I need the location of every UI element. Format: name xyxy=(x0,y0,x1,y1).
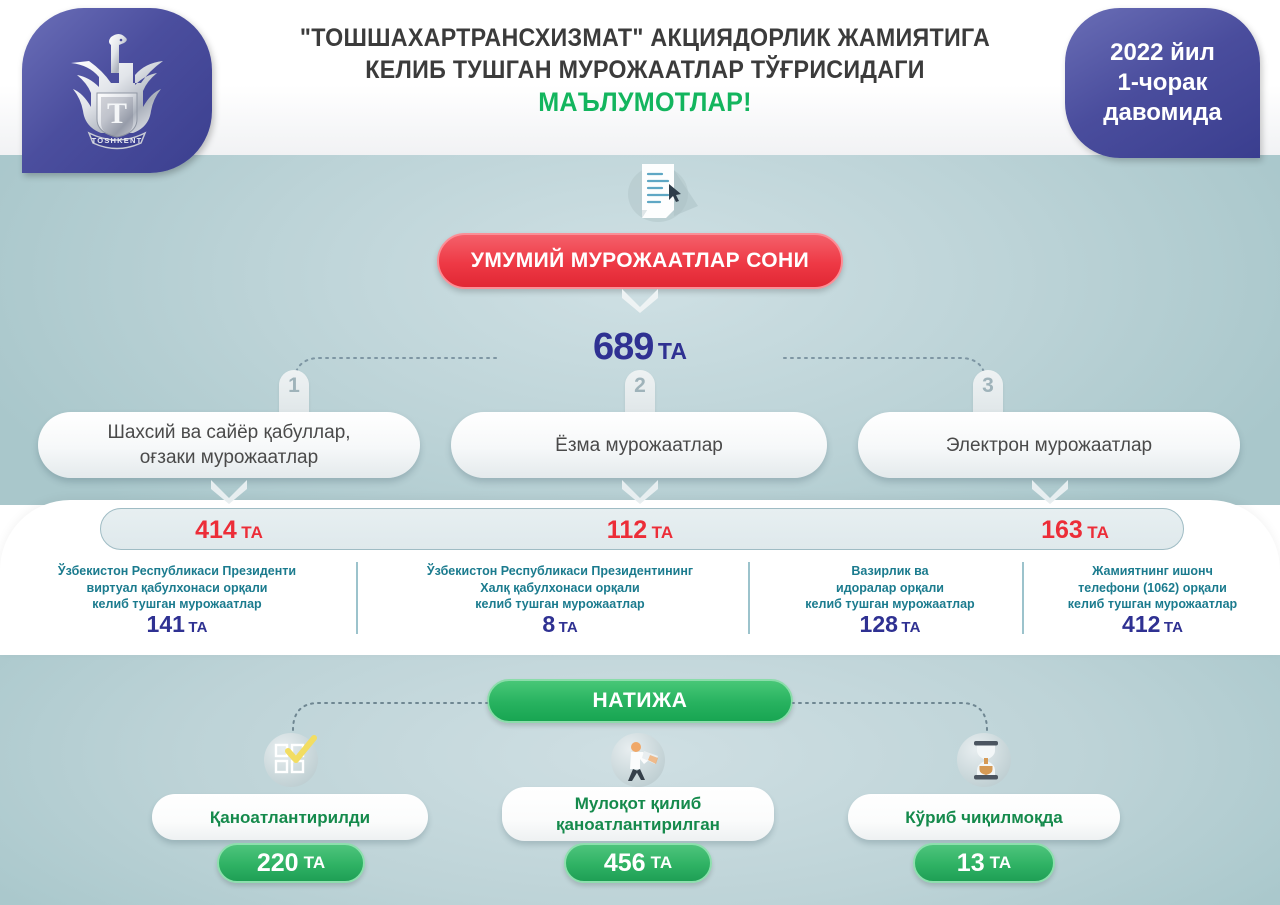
result-1-number: 220 xyxy=(257,849,299,878)
category-2-label: Ёзма мурожаатлар xyxy=(555,433,723,458)
channel-column-2: Ўзбекистон Республикаси Президентининг Х… xyxy=(370,563,750,636)
category-value-3-unit: ТА xyxy=(1087,523,1109,542)
title-line-2: КЕЛИБ ТУШГАН МУРОЖААТЛАР ТЎҒРИСИДАГИ xyxy=(278,54,1013,86)
category-value-1: 414 ТА xyxy=(144,516,314,545)
channel-4-number: 412 xyxy=(1122,611,1160,637)
infographic-page: T TOSHKENT "ТОШШАХАРТРАНСХИЗМАТ" АКЦИЯДО… xyxy=(0,0,1280,905)
channel-2-line-3: келиб тушган мурожаатлар xyxy=(370,596,750,613)
title-line-3: МАЪЛУМОТЛАР! xyxy=(278,86,1013,118)
results-connector-lines xyxy=(285,690,995,735)
channel-4-line-2: телефони (1062) орқали xyxy=(1030,580,1275,597)
result-1-label: Қаноатлантирилди xyxy=(210,807,370,828)
category-card-2[interactable]: Ёзма мурожаатлар xyxy=(451,412,827,478)
category-card-3[interactable]: Электрон мурожаатлар xyxy=(858,412,1240,478)
channel-1-value: 141 ТА xyxy=(12,616,342,637)
result-1-unit: ТА xyxy=(304,853,326,873)
category-card-1[interactable]: Шахсий ва сайёр қабуллар, оғзаки мурожаа… xyxy=(38,412,420,478)
channel-4-line-1: Жамиятнинг ишонч xyxy=(1030,563,1275,580)
column-divider-2 xyxy=(748,562,750,634)
channel-column-1: Ўзбекистон Республикаси Президенти вирту… xyxy=(12,563,342,636)
result-card-3[interactable]: Кўриб чиқилмоқда xyxy=(848,794,1120,840)
category-value-2-number: 112 xyxy=(607,516,647,544)
result-2-label-line-1: Мулоқот қилиб xyxy=(556,793,720,814)
date-badge-line-2: 1-чорак xyxy=(1118,68,1208,98)
channel-1-number: 141 xyxy=(147,611,185,637)
result-card-2[interactable]: Мулоқот қилиб қаноатлантирилган xyxy=(502,787,774,841)
title-line-1: "ТОШШАХАРТРАНСХИЗМАТ" АКЦИЯДОРЛИК ЖАМИЯТ… xyxy=(278,22,1013,54)
result-card-1[interactable]: Қаноатлантирилди xyxy=(152,794,428,840)
page-title: "ТОШШАХАРТРАНСХИЗМАТ" АКЦИЯДОРЛИК ЖАМИЯТ… xyxy=(278,22,1013,118)
document-icon xyxy=(612,160,704,222)
chevron-down-icon xyxy=(620,287,660,313)
category-value-3-number: 163 xyxy=(1041,516,1083,544)
total-banner-label: УМУМИЙ МУРОЖААТЛАР СОНИ xyxy=(471,249,809,273)
channel-4-value: 412 ТА xyxy=(1030,616,1275,637)
channel-4-unit: ТА xyxy=(1164,619,1183,636)
column-divider-1 xyxy=(356,562,358,634)
channel-3-line-2: идоралар орқали xyxy=(760,580,1020,597)
channel-2-line-1: Ўзбекистон Республикаси Президентининг xyxy=(370,563,750,580)
channel-2-line-2: Халқ қабулхонаси орқали xyxy=(370,580,750,597)
channel-2-number: 8 xyxy=(542,611,555,637)
category-value-2: 112 ТА xyxy=(555,516,725,545)
date-badge-line-1: 2022 йил xyxy=(1110,38,1215,68)
channel-1-line-2: виртуал қабулхонаси орқали xyxy=(12,580,342,597)
result-2-unit: ТА xyxy=(651,853,673,873)
svg-text:T: T xyxy=(107,97,127,130)
column-divider-3 xyxy=(1022,562,1024,634)
category-value-3: 163 ТА xyxy=(990,516,1160,545)
channel-column-4: Жамиятнинг ишонч телефони (1062) орқали … xyxy=(1030,563,1275,636)
person-walking-icon xyxy=(614,735,666,785)
toshshahartransxizmat-emblem-icon: T TOSHKENT xyxy=(57,27,177,155)
channel-3-value: 128 ТА xyxy=(760,616,1020,637)
result-value-pill-2: 456 ТА xyxy=(564,843,712,883)
result-3-number: 13 xyxy=(957,849,985,878)
category-3-label: Электрон мурожаатлар xyxy=(946,433,1152,458)
result-2-label-line-2: қаноатлантирилган xyxy=(556,814,720,835)
result-3-unit: ТА xyxy=(990,853,1012,873)
chevron-down-icon-1 xyxy=(209,478,249,504)
category-number-tab-2: 2 xyxy=(625,370,655,416)
channel-1-unit: ТА xyxy=(188,619,207,636)
hourglass-icon xyxy=(960,735,1012,785)
category-value-1-unit: ТА xyxy=(241,523,263,542)
channel-2-unit: ТА xyxy=(559,619,578,636)
checklist-check-icon xyxy=(268,735,320,785)
result-value-pill-3: 13 ТА xyxy=(913,843,1055,883)
date-badge: 2022 йил 1-чорак давомида xyxy=(1065,8,1260,158)
channel-1-line-1: Ўзбекистон Республикаси Президенти xyxy=(12,563,342,580)
total-banner: УМУМИЙ МУРОЖААТЛАР СОНИ xyxy=(437,233,843,289)
channel-2-value: 8 ТА xyxy=(370,616,750,637)
result-3-label: Кўриб чиқилмоқда xyxy=(905,807,1062,828)
date-badge-line-3: давомида xyxy=(1103,98,1221,128)
channel-3-number: 128 xyxy=(860,611,898,637)
result-value-pill-1: 220 ТА xyxy=(217,843,365,883)
category-number-tab-3: 3 xyxy=(973,370,1003,416)
channel-column-3: Вазирлик ва идоралар орқали келиб тушган… xyxy=(760,563,1020,636)
category-value-1-number: 414 xyxy=(195,516,237,544)
emblem-caption: TOSHKENT xyxy=(92,136,143,145)
chevron-down-icon-2 xyxy=(620,478,660,504)
channel-3-line-1: Вазирлик ва xyxy=(760,563,1020,580)
category-1-label-line-2: оғзаки мурожаатлар xyxy=(107,445,350,470)
category-1-label-line-1: Шахсий ва сайёр қабуллар, xyxy=(107,420,350,445)
channel-3-unit: ТА xyxy=(901,619,920,636)
category-value-2-unit: ТА xyxy=(652,523,674,542)
result-2-number: 456 xyxy=(604,849,646,878)
chevron-down-icon-3 xyxy=(1030,478,1070,504)
category-number-tab-1: 1 xyxy=(279,370,309,416)
logo-badge: T TOSHKENT xyxy=(22,8,212,173)
